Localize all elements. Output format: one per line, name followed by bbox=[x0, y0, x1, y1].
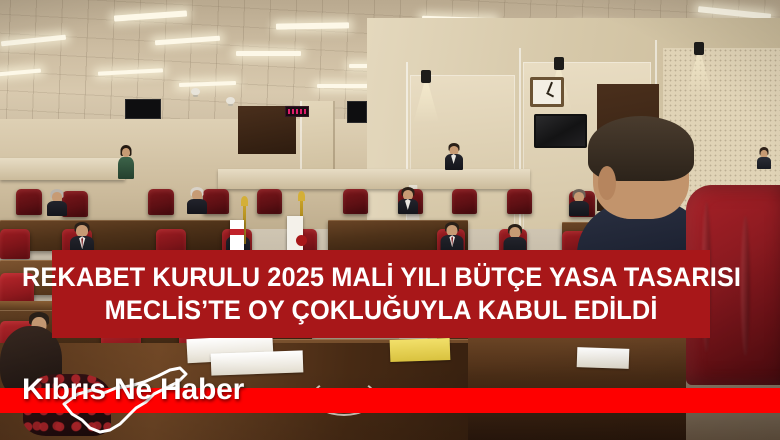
gallery-monitor bbox=[347, 101, 367, 123]
gallery-rail bbox=[218, 169, 530, 189]
security-camera bbox=[226, 97, 235, 104]
assembly-flag bbox=[287, 216, 303, 252]
wall-spotlight bbox=[554, 57, 564, 70]
gallery-monitor bbox=[125, 99, 161, 119]
chamber-chair bbox=[0, 229, 30, 259]
wall-spotlight bbox=[421, 70, 431, 83]
torso bbox=[187, 199, 207, 214]
armchair-fold bbox=[741, 216, 750, 356]
chamber-chair bbox=[343, 189, 368, 214]
chamber-chair bbox=[257, 189, 282, 214]
torso bbox=[118, 157, 134, 179]
ceiling-light-panel bbox=[236, 51, 301, 56]
chamber-desk bbox=[0, 220, 234, 251]
headline-line-1: REKABET KURULU 2025 MALİ YILI BÜTÇE YASA… bbox=[21, 261, 740, 294]
headline-line-2: MECLİS’TE OY ÇOKLUĞUYLA KABUL EDİLDİ bbox=[105, 294, 658, 327]
trnc-flag bbox=[230, 220, 244, 254]
news-image: REKABET KURULU 2025 MALİ YILI BÜTÇE YASA… bbox=[0, 0, 780, 440]
chamber-chair bbox=[148, 189, 174, 215]
ceiling-light-panel bbox=[317, 84, 374, 88]
ceiling-light-panel bbox=[276, 22, 349, 29]
led-scoreboard bbox=[285, 106, 309, 117]
person bbox=[757, 147, 771, 168]
paper-stack bbox=[210, 350, 303, 375]
gallery-rail-left bbox=[0, 158, 125, 180]
paper-sheet bbox=[577, 347, 630, 369]
person bbox=[187, 187, 207, 213]
chamber-chair bbox=[16, 189, 42, 215]
wall-clock bbox=[530, 77, 564, 107]
ear bbox=[598, 166, 616, 200]
chamber-chair bbox=[452, 189, 477, 214]
wall-seam bbox=[519, 48, 521, 246]
person bbox=[47, 189, 67, 215]
person bbox=[445, 143, 463, 169]
yellow-folder bbox=[390, 338, 451, 362]
site-logo-text[interactable]: Kıbrıs Ne Haber bbox=[22, 375, 244, 405]
security-camera bbox=[191, 88, 200, 95]
person-standing bbox=[117, 145, 134, 179]
head bbox=[122, 148, 130, 157]
person bbox=[441, 222, 464, 253]
torso bbox=[47, 201, 67, 216]
person bbox=[398, 187, 418, 213]
torso bbox=[757, 157, 771, 169]
wall-spotlight bbox=[694, 42, 704, 55]
headline-banner: REKABET KURULU 2025 MALİ YILI BÜTÇE YASA… bbox=[52, 250, 710, 338]
chamber-chair bbox=[507, 189, 532, 214]
